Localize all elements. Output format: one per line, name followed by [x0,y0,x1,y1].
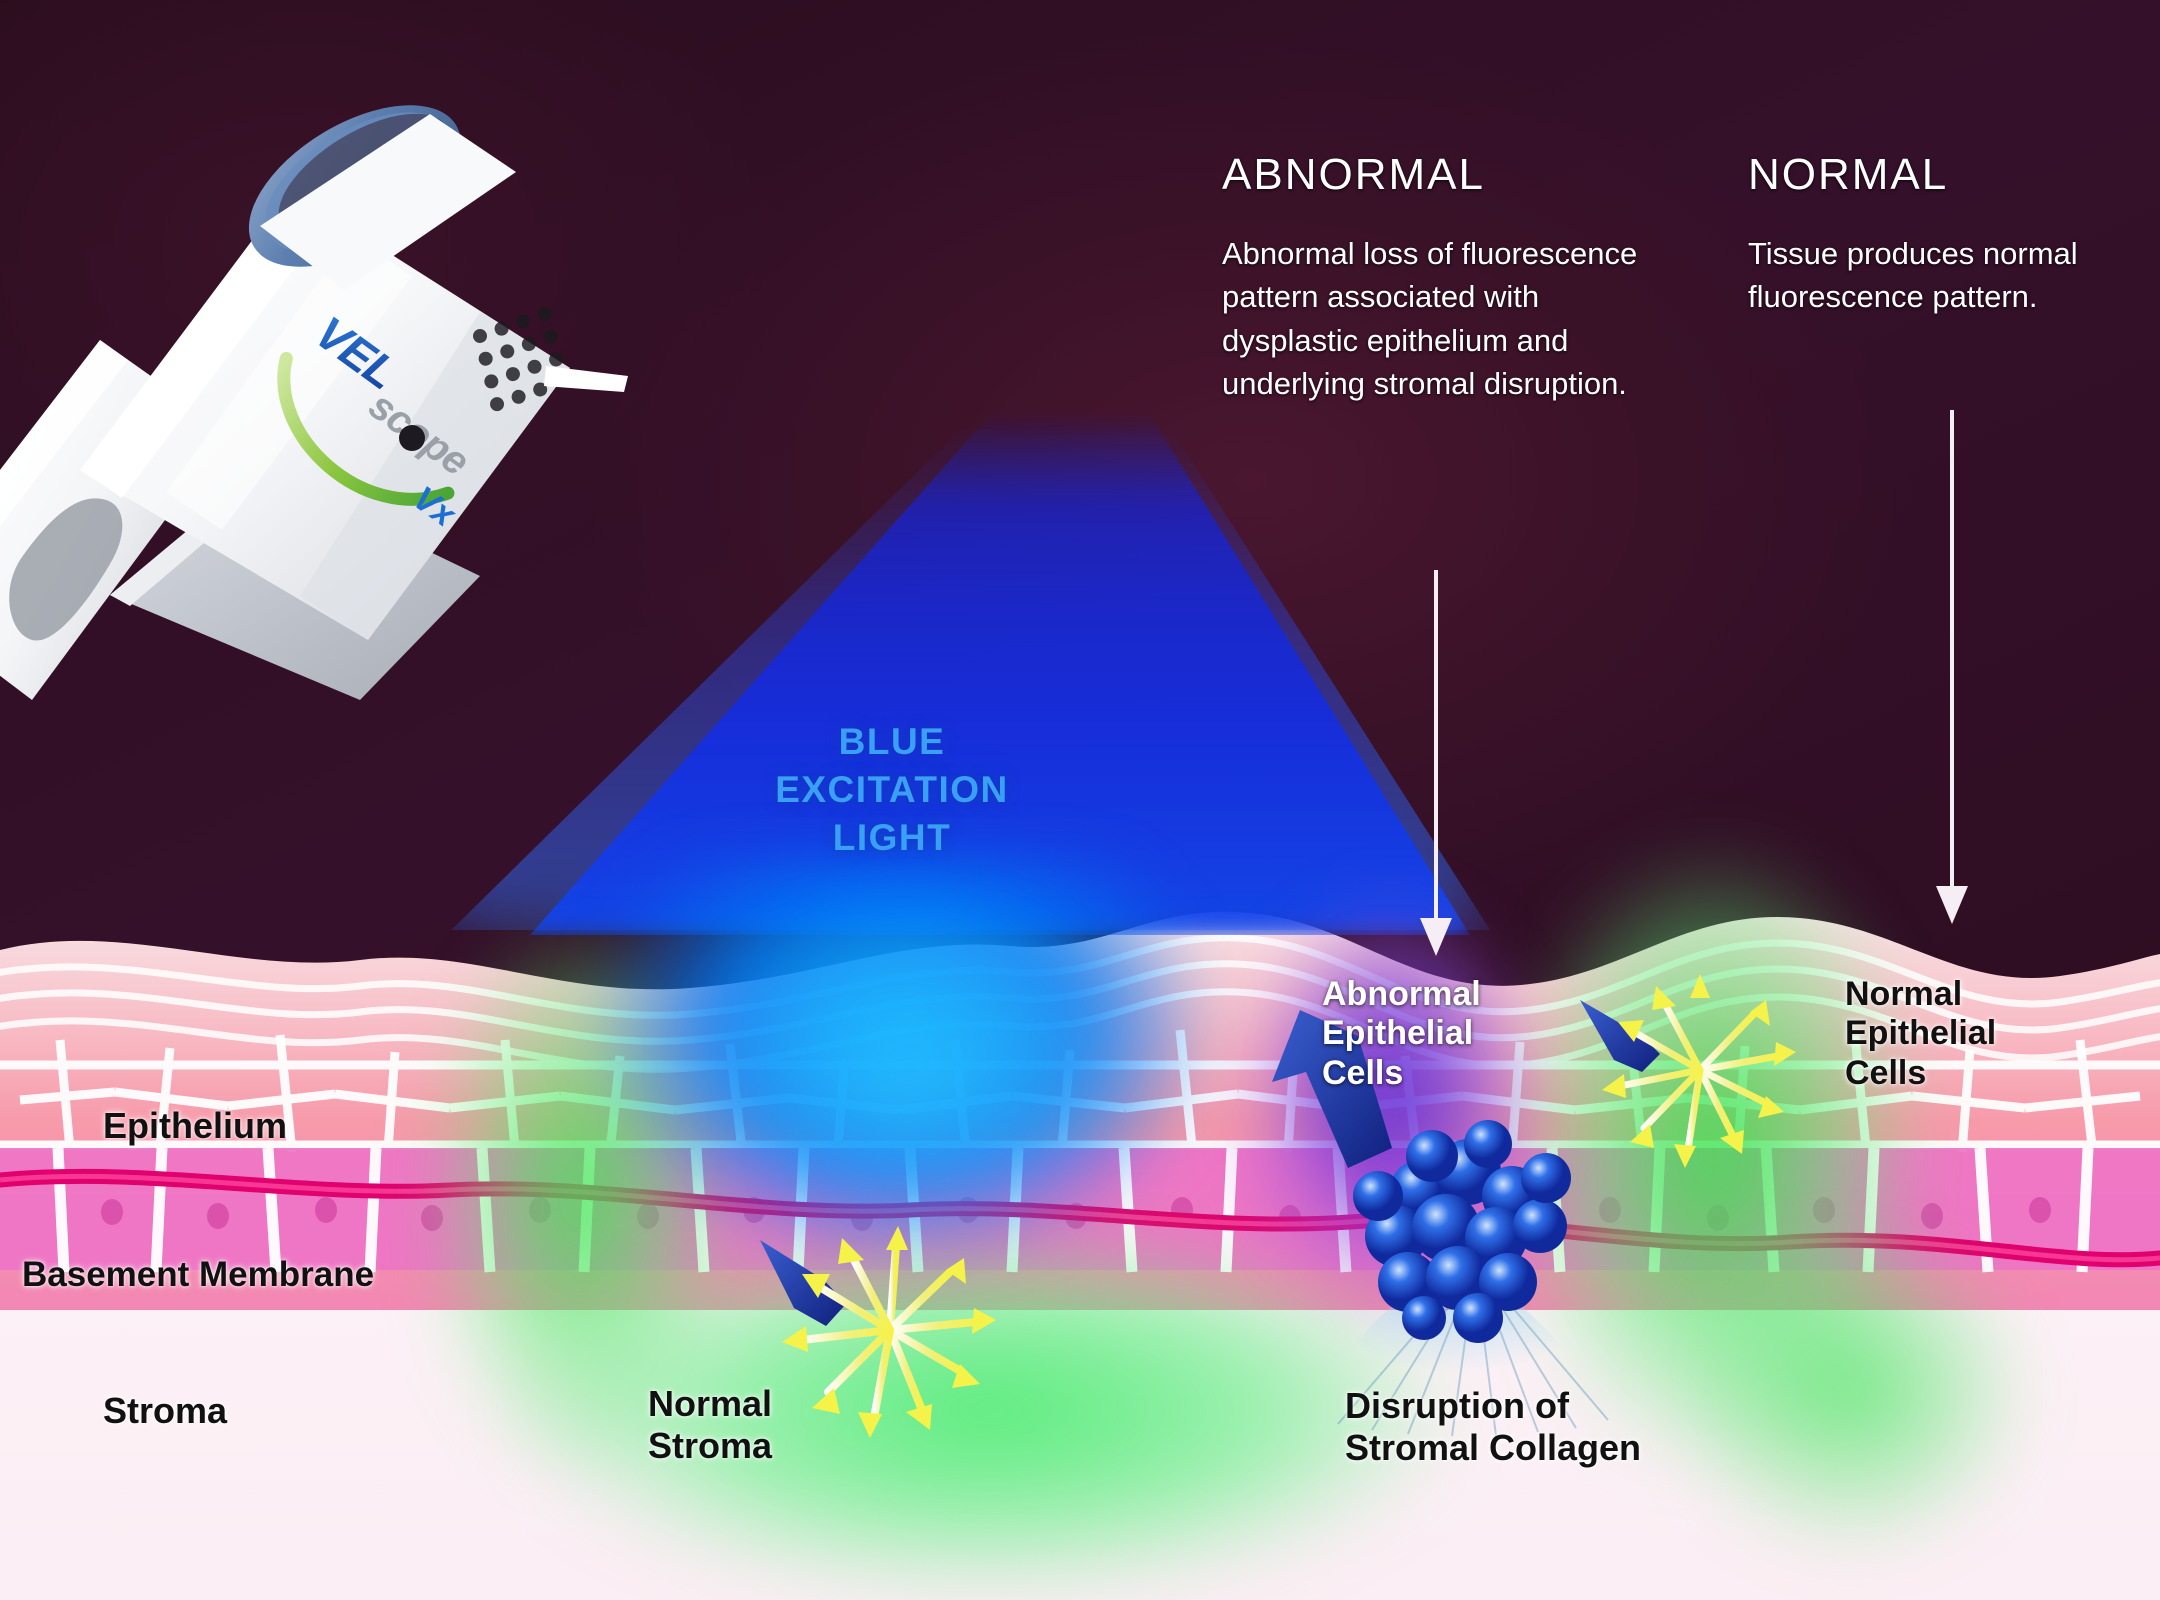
label-basement-membrane: Basement Membrane [22,1255,374,1296]
beam-label-line-2: EXCITATION [722,766,1062,814]
velscope-device-svg: VEL scope Vx [0,40,660,720]
device-indicator-port [399,425,425,451]
velscope-device: VEL scope Vx [0,40,660,720]
beam-label-line-3: LIGHT [722,814,1062,862]
label-disruption-stromal-collagen: Disruption ofStromal Collagen [1345,1385,1641,1469]
leader-line-abnormal [1434,570,1438,922]
blue-excitation-light-label: BLUE EXCITATION LIGHT [722,718,1062,862]
callout-normal: NORMAL Tissue produces normal fluorescen… [1748,150,2148,319]
beam-label-line-1: BLUE [722,718,1062,766]
callout-abnormal-body: Abnormal loss of fluorescence pattern as… [1222,232,1662,406]
label-abnormal-epithelial-cells: AbnormalEpithelialCells [1322,975,1481,1093]
device-light-guide-tab [544,366,628,392]
callout-normal-body: Tissue produces normal fluorescence patt… [1748,232,2148,319]
leader-line-normal [1950,410,1954,890]
label-normal-stroma: NormalStroma [648,1383,772,1467]
callout-abnormal-heading: ABNORMAL [1222,150,1662,200]
callout-normal-heading: NORMAL [1748,150,2148,200]
diagram-canvas: VEL scope Vx ABNORMAL [0,0,2160,1600]
tissue-svg [0,880,2160,1600]
epithelium-layer [0,880,2160,1320]
label-stroma: Stroma [103,1390,227,1432]
label-epithelium: Epithelium [103,1105,287,1147]
label-normal-epithelial-cells: NormalEpithelialCells [1845,975,1996,1093]
tissue-cross-section [0,880,2160,1600]
callout-abnormal: ABNORMAL Abnormal loss of fluorescence p… [1222,150,1662,406]
